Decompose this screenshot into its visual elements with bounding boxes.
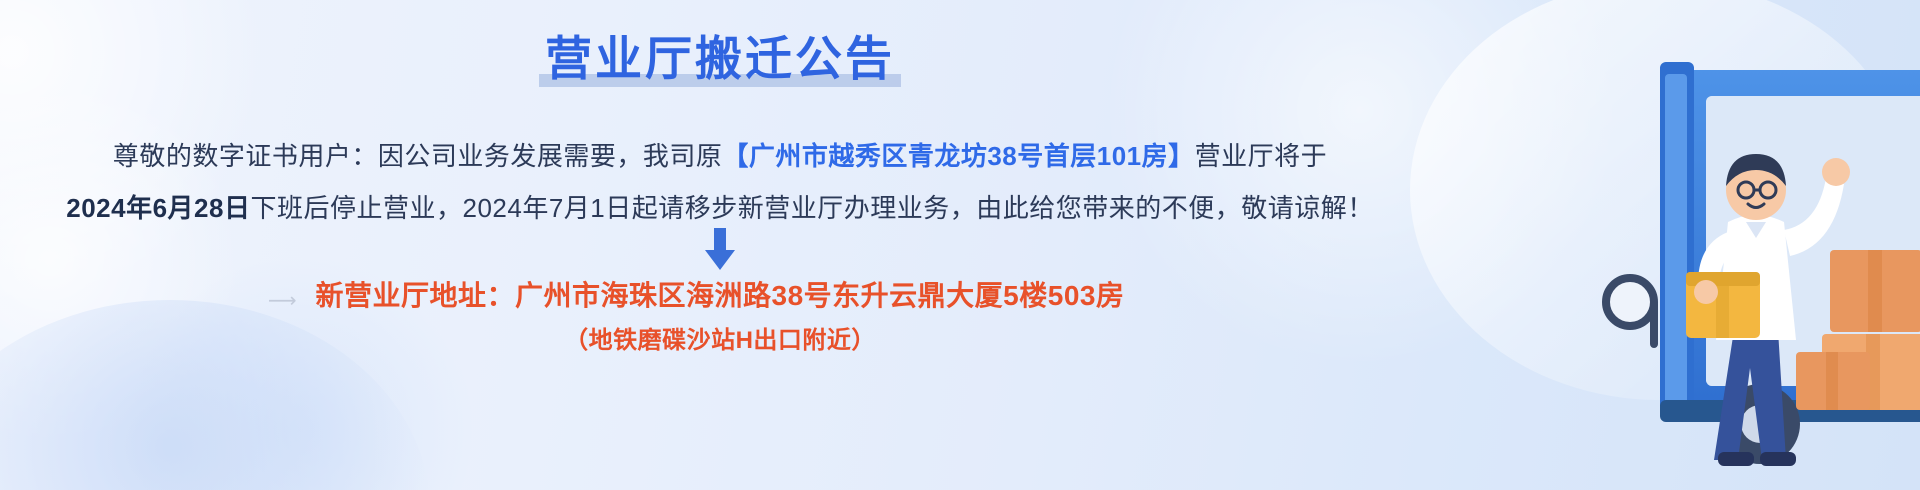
- title-text: 营业厅搬迁公告: [545, 32, 895, 85]
- yellow-parcel: [1686, 272, 1760, 338]
- closing-date: 2024年6月28日: [66, 193, 250, 223]
- moving-truck-illustration: [1360, 0, 1920, 490]
- banner-content: 营业厅搬迁公告 尊敬的数字证书用户：因公司业务发展需要，我司原【广州市越秀区青龙…: [0, 0, 1440, 490]
- page-title: 营业厅搬迁公告: [539, 30, 901, 89]
- down-arrow-icon: [700, 228, 740, 272]
- arrow-wrapper: [0, 228, 1440, 274]
- new-address-subtext: （地铁磨碟沙站H出口附近）: [0, 320, 1440, 355]
- body-line-1-lead: 尊敬的数字证书用户：因公司业务发展需要，我司原: [113, 141, 723, 171]
- announcement-banner: 营业厅搬迁公告 尊敬的数字证书用户：因公司业务发展需要，我司原【广州市越秀区青龙…: [0, 0, 1920, 490]
- person-hand-left: [1694, 280, 1718, 304]
- person-hand-right: [1822, 158, 1850, 186]
- body-line-1: 尊敬的数字证书用户：因公司业务发展需要，我司原【广州市越秀区青龙坊38号首层10…: [0, 136, 1440, 173]
- title-wrapper: 营业厅搬迁公告: [0, 30, 1440, 89]
- body-line-2: 2024年6月28日下班后停止营业，2024年7月1日起请移步新营业厅办理业务，…: [0, 188, 1440, 225]
- new-address: 新营业厅地址：广州市海珠区海洲路38号东升云鼎大厦5楼503房: [0, 274, 1440, 314]
- body-line-2-tail: 下班后停止营业，2024年7月1日起请移步新营业厅办理业务，由此给您带来的不便，…: [250, 193, 1373, 223]
- old-address-highlight: 【广州市越秀区青龙坊38号首层101房】: [722, 141, 1194, 171]
- body-line-1-tail: 营业厅将于: [1195, 141, 1328, 171]
